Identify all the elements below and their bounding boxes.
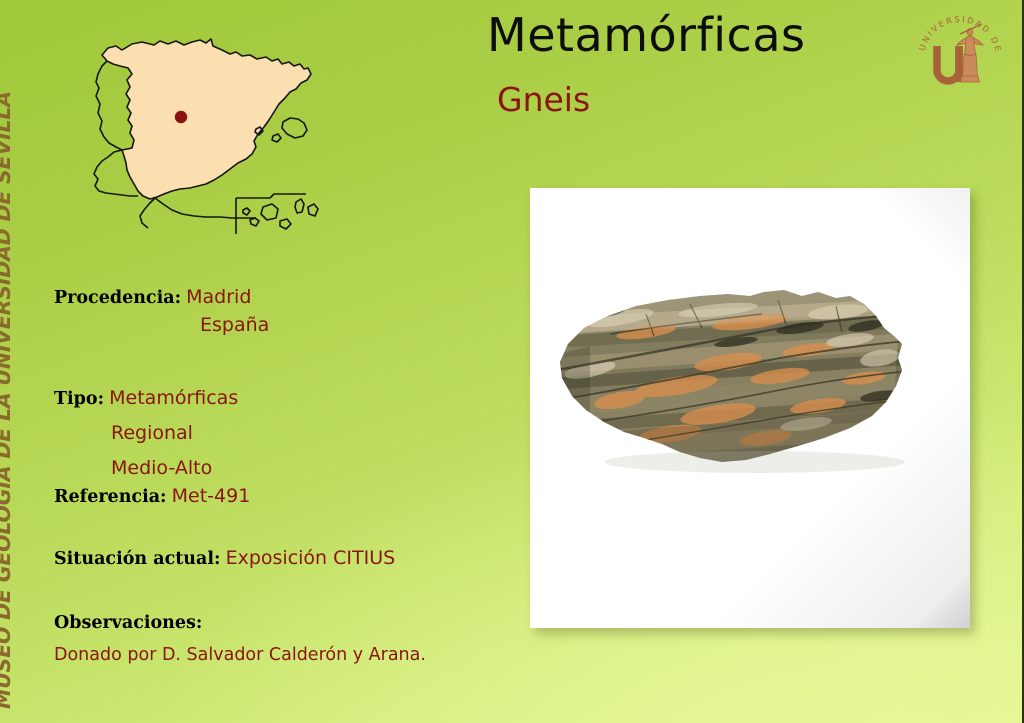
field-procedencia: Procedencia: Madrid	[54, 288, 251, 308]
tipo-value-3: Medio-Alto	[111, 457, 212, 479]
universidad-de-sevilla-seal-icon: UNIVERSIDAD DE SEVILLA	[910, 6, 1010, 106]
tipo-label: Tipo:	[54, 389, 104, 409]
field-situacion-actual: Situación actual: Exposición CITIUS	[54, 549, 395, 569]
field-observaciones-value: Donado por D. Salvador Calderón y Arana.	[54, 647, 426, 665]
museum-sidebar-label: MUSEO DE GEOLOGÍA DE LA UNIVERSIDAD DE S…	[0, 91, 15, 709]
museum-sidebar: MUSEO DE GEOLOGÍA DE LA UNIVERSIDAD DE S…	[0, 0, 48, 723]
field-referencia: Referencia: Met-491	[54, 487, 250, 507]
field-procedencia-line2: España	[200, 316, 269, 335]
page-title: Metamórficas	[487, 8, 806, 62]
tipo-value-1: Metamórficas	[109, 387, 238, 409]
field-observaciones: Observaciones:	[54, 615, 202, 633]
gneiss-specimen-image	[550, 266, 950, 486]
map-marker-madrid	[175, 111, 187, 123]
procedencia-value-2: España	[200, 314, 269, 336]
observaciones-label: Observaciones:	[54, 613, 202, 633]
referencia-value: Met-491	[172, 485, 251, 507]
map-of-spain	[80, 28, 342, 254]
page-subtitle: Gneis	[497, 80, 590, 119]
tipo-value-2: Regional	[111, 422, 193, 444]
referencia-label: Referencia:	[54, 487, 167, 507]
field-tipo: Tipo: Metamórficas	[54, 389, 238, 409]
slide-root: MUSEO DE GEOLOGÍA DE LA UNIVERSIDAD DE S…	[0, 0, 1024, 723]
observaciones-value: Donado por D. Salvador Calderón y Arana.	[54, 645, 426, 665]
field-tipo-line2: Regional	[111, 424, 193, 443]
situacion-label: Situación actual:	[54, 549, 220, 569]
specimen-photo-panel	[530, 188, 970, 628]
field-tipo-line3: Medio-Alto	[111, 459, 212, 478]
procedencia-label: Procedencia:	[54, 288, 181, 308]
procedencia-value-1: Madrid	[186, 286, 251, 308]
situacion-value: Exposición CITIUS	[226, 547, 396, 569]
